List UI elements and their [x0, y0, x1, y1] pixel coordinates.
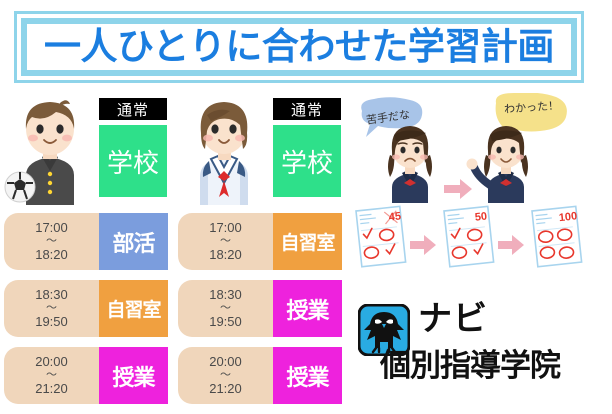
- badge-normal-girl: 通常: [273, 98, 341, 120]
- activity-block-girl-row3: 授業: [273, 347, 342, 404]
- schedule-cell-boy-row1: 17:00 〜 18:20 部活: [4, 213, 168, 270]
- schedule-cell-girl-row1: 17:00 〜 18:20 自習室: [178, 213, 342, 270]
- arrow: [444, 179, 472, 199]
- title-banner: 一人ひとりに合わせた学習計画: [14, 11, 584, 83]
- cell-school-girl: 学校: [273, 125, 341, 197]
- schedule-table: 通常 学校: [0, 93, 348, 414]
- schedule-column-girl: 通常 学校: [178, 93, 342, 208]
- test-score-progression: 45 50: [348, 205, 612, 291]
- before-after-scene: 苦手だな わかった！: [348, 93, 612, 203]
- table-row: 18:30 〜 19:50 自習室 18:30 〜 19:50 授業: [0, 280, 348, 337]
- time-end: 18:20: [35, 248, 68, 263]
- time-end: 21:20: [35, 382, 68, 397]
- time-label: 18:30 〜 19:50: [178, 280, 273, 337]
- time-end: 18:20: [209, 248, 242, 263]
- girl-student-avatar: [178, 95, 270, 205]
- brand-logo: ナビ 個別指導学院: [352, 298, 612, 410]
- time-start: 18:30: [35, 288, 68, 303]
- time-tilde: 〜: [220, 302, 231, 314]
- title-banner-inner-border: 一人ひとりに合わせた学習計画: [21, 18, 577, 76]
- time-end: 19:50: [35, 315, 68, 330]
- illustration-panel: 苦手だな わかった！ 45 50: [348, 93, 612, 414]
- arrow: [498, 235, 524, 255]
- time-tilde: 〜: [46, 302, 57, 314]
- time-label: 20:00 〜 21:20: [178, 347, 273, 404]
- schedule-cell-girl-row2: 18:30 〜 19:50 授業: [178, 280, 342, 337]
- time-tilde: 〜: [46, 235, 57, 247]
- time-start: 18:30: [209, 288, 242, 303]
- activity-block-girl-row2: 授業: [273, 280, 342, 337]
- brand-subtitle: 個別指導学院: [380, 350, 560, 381]
- test-paper-3: 100: [532, 206, 582, 266]
- table-row: 17:00 〜 18:20 部活 17:00 〜 18:20 自習室: [0, 213, 348, 270]
- time-start: 20:00: [35, 355, 68, 370]
- time-start: 17:00: [35, 221, 68, 236]
- time-label: 18:30 〜 19:50: [4, 280, 99, 337]
- brand-name: ナビ: [418, 302, 488, 336]
- table-row: 20:00 〜 21:20 授業 20:00 〜 21:20 授業: [0, 347, 348, 404]
- test-paper-2: 50: [444, 206, 494, 266]
- svg-text:100: 100: [558, 210, 578, 224]
- activity-block-boy-row2: 自習室: [99, 280, 168, 337]
- time-start: 17:00: [209, 221, 242, 236]
- schedule-cell-boy-row3: 20:00 〜 21:20 授業: [4, 347, 168, 404]
- time-end: 19:50: [209, 315, 242, 330]
- schedule-column-boy: 通常 学校: [4, 93, 168, 208]
- cell-school-boy: 学校: [99, 125, 167, 197]
- boy-column-labels: 通常 学校: [99, 98, 167, 197]
- time-start: 20:00: [209, 355, 242, 370]
- boy-student-avatar: [4, 95, 96, 205]
- activity-block-boy-row1: 部活: [99, 213, 168, 270]
- time-label: 17:00 〜 18:20: [4, 213, 99, 270]
- time-tilde: 〜: [220, 235, 231, 247]
- test-paper-1: 45: [356, 206, 406, 266]
- schedule-rows: 17:00 〜 18:20 部活 17:00 〜 18:20 自習室 18:30: [0, 213, 348, 414]
- schedule-cell-girl-row3: 20:00 〜 21:20 授業: [178, 347, 342, 404]
- schedule-cell-boy-row2: 18:30 〜 19:50 自習室: [4, 280, 168, 337]
- activity-block-boy-row3: 授業: [99, 347, 168, 404]
- activity-block-girl-row1: 自習室: [273, 213, 342, 270]
- time-tilde: 〜: [220, 369, 231, 381]
- time-label: 20:00 〜 21:20: [4, 347, 99, 404]
- svg-text:50: 50: [474, 211, 487, 224]
- badge-normal-boy: 通常: [99, 98, 167, 120]
- page-title: 一人ひとりに合わせた学習計画: [27, 24, 571, 70]
- arrow: [410, 235, 436, 255]
- time-end: 21:20: [209, 382, 242, 397]
- girl-column-labels: 通常 学校: [273, 98, 341, 197]
- time-tilde: 〜: [46, 369, 57, 381]
- time-label: 17:00 〜 18:20: [178, 213, 273, 270]
